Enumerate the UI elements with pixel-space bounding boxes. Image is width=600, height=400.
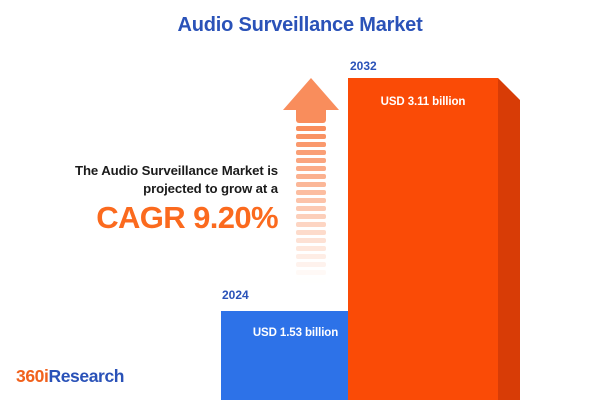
arrow-shaft-bar (296, 166, 326, 171)
cagr-value: CAGR 9.20% (20, 200, 278, 236)
bar-2032-front-face[interactable] (348, 78, 498, 400)
arrow-shaft-bar (296, 286, 326, 291)
arrow-shaft-bar (296, 214, 326, 219)
arrow-shaft-bar (296, 142, 326, 147)
brand-logo-part-2: Research (48, 366, 124, 386)
page-title: Audio Surveillance Market (0, 14, 600, 37)
brand-logo-part-1: 360i (16, 366, 48, 386)
arrow-shaft-bar (296, 230, 326, 235)
arrow-neck (296, 109, 326, 123)
bar-2032-side-face (498, 78, 520, 400)
arrow-shaft-bar (296, 190, 326, 195)
arrow-shaft-bar (296, 222, 326, 227)
bar-2032-value-label: USD 3.11 billion (348, 96, 498, 108)
arrow-head-icon (283, 78, 339, 110)
arrow-shaft-bar (296, 126, 326, 131)
arrow-shaft-bar (296, 270, 326, 275)
arrow-shaft-bar (296, 150, 326, 155)
arrow-shaft-bar (296, 174, 326, 179)
arrow-shaft-bar (296, 182, 326, 187)
infographic-canvas: Audio Surveillance Market The Audio Surv… (0, 0, 600, 400)
arrow-shaft-bar (296, 238, 326, 243)
arrow-shaft-bar (296, 206, 326, 211)
arrow-shaft-bar (296, 158, 326, 163)
arrow-shaft-bar (296, 278, 326, 283)
arrow-shaft-bar (296, 198, 326, 203)
growth-statement-line-2: projected to grow at a (20, 180, 278, 198)
arrow-shaft-bar (296, 254, 326, 259)
growth-arrow-icon (283, 78, 339, 296)
growth-statement: The Audio Surveillance Market is project… (20, 162, 278, 198)
brand-logo[interactable]: 360iResearch (16, 366, 124, 387)
arrow-shaft-bar (296, 262, 326, 267)
arrow-shaft-bar (296, 134, 326, 139)
arrow-shaft-bar (296, 246, 326, 251)
bar-2032-year-label: 2032 (350, 59, 377, 73)
bar-2024-year-label: 2024 (222, 288, 249, 302)
growth-statement-line-1: The Audio Surveillance Market is (20, 162, 278, 180)
